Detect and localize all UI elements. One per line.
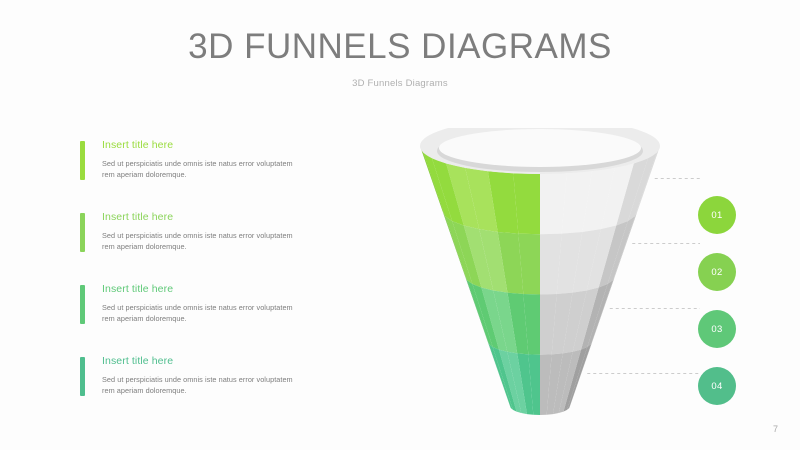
list-item-accent-bar [80,141,85,180]
page-number: 7 [773,424,778,434]
list-item-accent-bar [80,285,85,324]
list-item-title: Insert title here [102,282,317,297]
funnel-badge-03[interactable]: 03 [698,310,736,348]
list-item[interactable]: 2 Insert title here Sed ut perspiciatis … [80,210,335,282]
list-item-title: Insert title here [102,210,317,225]
list-item-accent-bar [80,213,85,252]
feature-list: 1 Insert title here Sed ut perspiciatis … [80,138,335,426]
list-item-description: Sed ut perspiciatis unde omnis iste natu… [102,374,302,397]
slide-header: 3D FUNNELS DIAGRAMS 3D Funnels Diagrams [0,26,800,89]
funnel-badge-label: 01 [711,210,722,221]
list-item-description: Sed ut perspiciatis unde omnis iste natu… [102,158,302,181]
list-item[interactable]: 4 Insert title here Sed ut perspiciatis … [80,354,335,426]
funnel-badge-list: 01 02 03 04 [698,196,746,416]
list-item-body: Insert title here Sed ut perspiciatis un… [102,138,317,181]
slide-canvas: 3D FUNNELS DIAGRAMS 3D Funnels Diagrams … [0,0,800,450]
list-item-title: Insert title here [102,354,317,369]
funnel-diagram[interactable] [400,128,710,428]
list-item-description: Sed ut perspiciatis unde omnis iste natu… [102,230,302,253]
list-item-description: Sed ut perspiciatis unde omnis iste natu… [102,302,302,325]
funnel-badge-04[interactable]: 04 [698,367,736,405]
list-item-body: Insert title here Sed ut perspiciatis un… [102,210,317,253]
list-item-body: Insert title here Sed ut perspiciatis un… [102,354,317,397]
funnel-badge-label: 03 [711,324,722,335]
funnel-rim-inner-highlight [439,129,641,167]
funnel-badge-01[interactable]: 01 [698,196,736,234]
page-subtitle: 3D Funnels Diagrams [0,78,800,89]
list-item[interactable]: 1 Insert title here Sed ut perspiciatis … [80,138,335,210]
page-title: 3D FUNNELS DIAGRAMS [0,26,800,68]
list-item[interactable]: 3 Insert title here Sed ut perspiciatis … [80,282,335,354]
list-item-accent-bar [80,357,85,396]
funnel-badge-label: 04 [711,381,722,392]
list-item-body: Insert title here Sed ut perspiciatis un… [102,282,317,325]
list-item-title: Insert title here [102,138,317,153]
funnel-badge-label: 02 [711,267,722,278]
funnel-cone-svg [400,128,710,428]
funnel-badge-02[interactable]: 02 [698,253,736,291]
